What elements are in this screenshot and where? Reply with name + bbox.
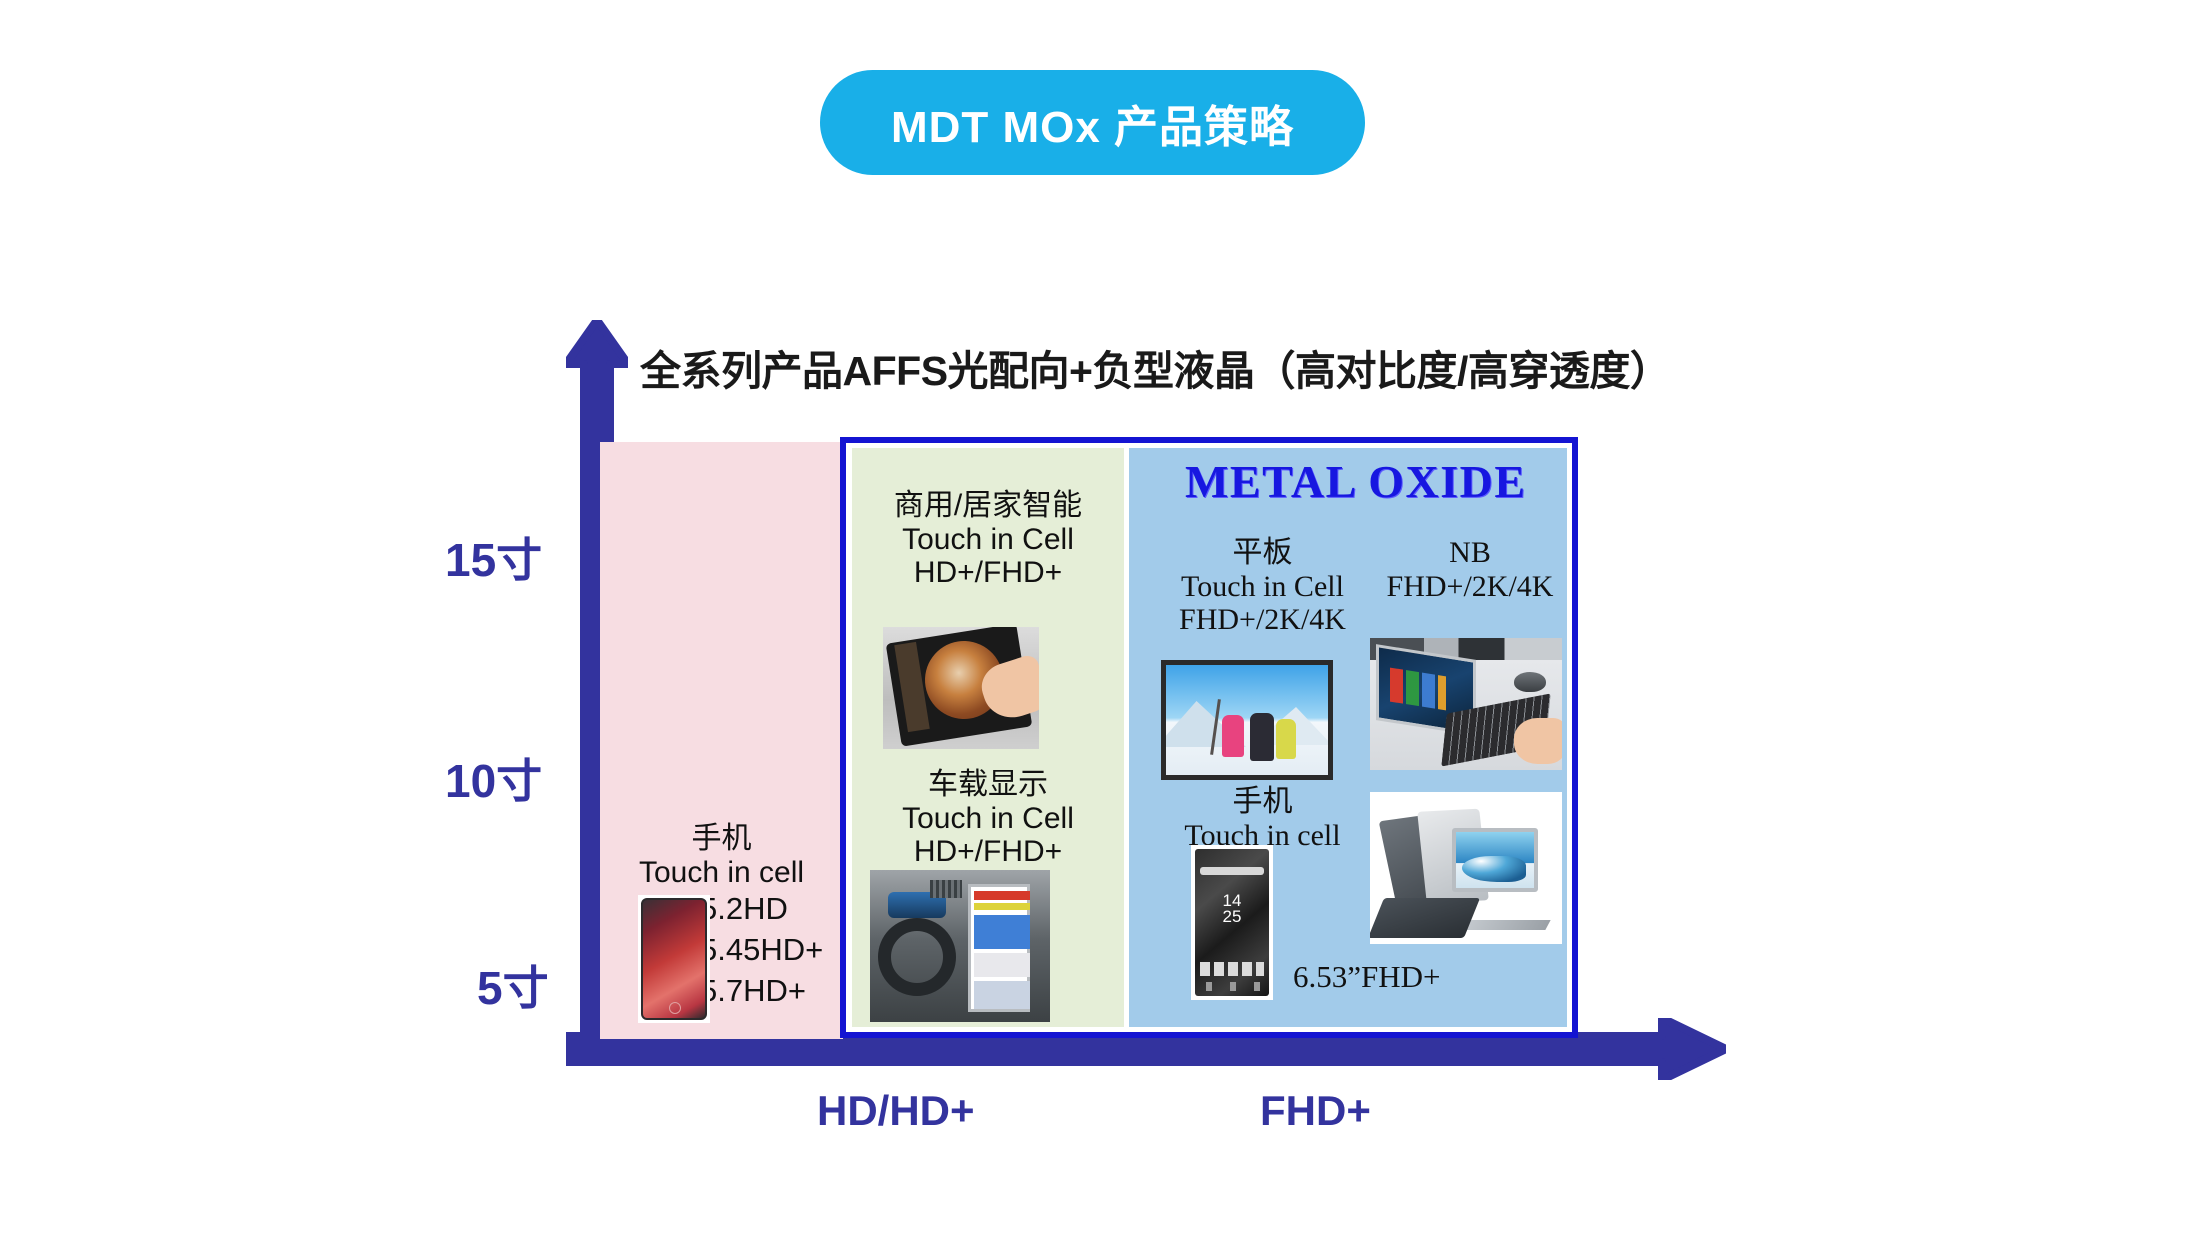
blue-nb-line2: FHD+/2K/4K <box>1370 570 1570 604</box>
plot-heading: 全系列产品AFFS光配向+负型液晶（高对比度/高穿透度） <box>640 337 1670 397</box>
x-tick-label-fhd: FHD+ <box>1260 1087 1371 1135</box>
green-item-2-line3: HD+/FHD+ <box>852 835 1124 869</box>
smartphone-red-photo <box>638 895 710 1023</box>
blue-item-tablet-label: 平板 Touch in Cell FHD+/2K/4K <box>1140 536 1385 637</box>
tv-monitor-ski-photo <box>1161 660 1333 780</box>
pink-spec-3: 5.7HD+ <box>700 970 823 1011</box>
blue-item-phone-label: 手机 Touch in cell <box>1140 785 1385 852</box>
green-item-1-label: 商用/居家智能 Touch in Cell HD+/FHD+ <box>852 489 1124 590</box>
blue-phone-spec: 6.53”FHD+ <box>1293 959 1441 995</box>
metal-oxide-heading: METAL OXIDE <box>1185 455 1527 508</box>
y-tick-label-15: 15寸 <box>445 524 542 590</box>
smartphone-black-photo: 1425 <box>1191 845 1273 1000</box>
blue-item-nb-label: NB FHD+/2K/4K <box>1370 536 1570 603</box>
blue-phone-line1: 手机 <box>1140 785 1385 819</box>
pink-region-specs: 5.2HD 5.45HD+ 5.7HD+ <box>700 888 823 1012</box>
pink-label-line2: Touch in cell <box>600 856 843 890</box>
pink-spec-1: 5.2HD <box>700 888 823 929</box>
page-title: MDT MOx 产品策略 <box>891 91 1294 155</box>
tablet-food-app-photo <box>883 627 1039 749</box>
green-item-2-line2: Touch in Cell <box>852 802 1124 836</box>
blue-nb-line1: NB <box>1370 536 1570 570</box>
blue-tablet-line3: FHD+/2K/4K <box>1140 603 1385 637</box>
blue-tablet-line2: Touch in Cell <box>1140 570 1385 604</box>
x-tick-label-hd: HD/HD+ <box>817 1087 975 1135</box>
green-item-1-line3: HD+/FHD+ <box>852 556 1124 590</box>
laptop-windows-desk-photo <box>1370 638 1562 770</box>
blue-tablet-line1: 平板 <box>1140 536 1385 570</box>
car-dashboard-photo <box>870 870 1050 1022</box>
green-item-2-label: 车载显示 Touch in Cell HD+/FHD+ <box>852 768 1124 869</box>
green-item-1-line2: Touch in Cell <box>852 523 1124 557</box>
green-item-2-line1: 车载显示 <box>852 768 1124 802</box>
laptop-family-lineup-photo <box>1370 792 1562 944</box>
green-item-1-line1: 商用/居家智能 <box>852 489 1124 523</box>
y-tick-label-5: 5寸 <box>477 952 549 1018</box>
pink-label-line1: 手机 <box>600 822 843 856</box>
title-pill: MDT MOx 产品策略 <box>820 70 1365 175</box>
pink-spec-2: 5.45HD+ <box>700 929 823 970</box>
pink-region-label: 手机 Touch in cell <box>600 822 843 889</box>
y-tick-label-10: 10寸 <box>445 745 542 811</box>
